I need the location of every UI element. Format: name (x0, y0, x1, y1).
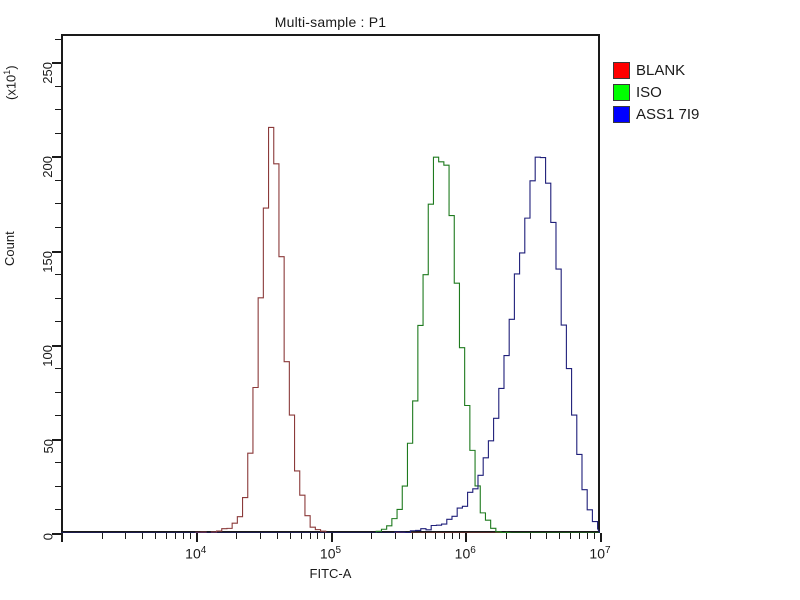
flow-cytometry-figure: Multi-sample : P1 Count (x101) 050100150… (0, 0, 800, 600)
x-tick-mantissa: 10 (589, 546, 605, 562)
legend-item-label: ASS1 7I9 (636, 106, 699, 123)
x-tick-minor (317, 533, 318, 539)
x-tick-mantissa: 10 (320, 546, 336, 562)
x-tick-minor (190, 533, 191, 539)
x-tick-exponent: 5 (336, 545, 342, 556)
x-tick-minor (570, 533, 571, 539)
x-tick-label: 107 (589, 545, 610, 562)
x-tick-label: 106 (455, 545, 476, 562)
legend-item[interactable]: ASS1 7I9 (613, 105, 699, 124)
legend-color-swatch (613, 62, 630, 79)
x-tick-exponent: 7 (605, 545, 611, 556)
x-tick-minor (425, 533, 426, 539)
x-tick-minor (142, 533, 143, 539)
x-tick-major (331, 533, 333, 542)
legend-color-swatch (613, 84, 630, 101)
x-tick-minor (435, 533, 436, 539)
x-tick-minor (310, 533, 311, 539)
x-tick-minor (444, 533, 445, 539)
x-tick-minor (301, 533, 302, 539)
x-tick-minor (236, 533, 237, 539)
x-tick-minor (371, 533, 372, 539)
x-tick-minor (559, 533, 560, 539)
legend-item-label: BLANK (636, 62, 685, 79)
x-tick-major (196, 533, 198, 542)
x-tick-major (465, 533, 467, 542)
x-tick-minor (452, 533, 453, 539)
x-tick-label: 104 (185, 545, 206, 562)
x-tick-minor (175, 533, 176, 539)
x-tick-minor (459, 533, 460, 539)
x-axis-title: FITC-A (61, 566, 600, 581)
x-tick-minor (594, 533, 595, 539)
x-tick-minor (183, 533, 184, 539)
x-tick-minor (125, 533, 126, 539)
x-tick-minor (324, 533, 325, 539)
x-tick-minor (395, 533, 396, 539)
x-tick-exponent: 4 (201, 545, 207, 556)
legend-item[interactable]: BLANK (613, 61, 699, 80)
legend-item[interactable]: ISO (613, 83, 699, 102)
x-tick-minor (546, 533, 547, 539)
legend-item-label: ISO (636, 84, 662, 101)
x-tick-mantissa: 10 (185, 546, 201, 562)
x-tick-minor (587, 533, 588, 539)
x-tick-minor (155, 533, 156, 539)
legend: BLANKISOASS1 7I9 (613, 61, 699, 124)
x-tick-label: 105 (320, 545, 341, 562)
x-tick-minor (166, 533, 167, 539)
x-tick-mantissa: 10 (455, 546, 471, 562)
x-tick-exponent: 6 (470, 545, 476, 556)
legend-color-swatch (613, 106, 630, 123)
x-tick-minor (412, 533, 413, 539)
x-tick-minor (579, 533, 580, 539)
x-tick-major (600, 533, 602, 542)
x-tick-minor (102, 533, 103, 539)
x-tick-major (61, 533, 63, 542)
x-tick-minor (260, 533, 261, 539)
x-tick-minor (277, 533, 278, 539)
x-tick-minor (506, 533, 507, 539)
x-tick-minor (290, 533, 291, 539)
x-tick-minor (530, 533, 531, 539)
